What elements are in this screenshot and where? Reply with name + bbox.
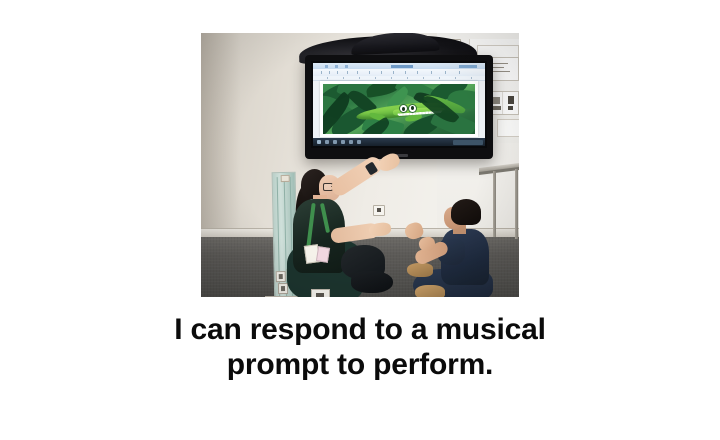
symbol-icon — [508, 96, 514, 104]
id-badge — [316, 246, 330, 263]
caption: I can respond to a musical prompt to per… — [0, 312, 720, 382]
table-leg — [493, 171, 496, 237]
symbol-icon — [493, 106, 501, 110]
app-ribbon[interactable] — [313, 69, 485, 76]
caption-line-2: prompt to perform. — [0, 347, 720, 382]
socket-icon — [278, 283, 288, 294]
shoe — [415, 285, 445, 297]
floor-card — [311, 289, 330, 297]
hair — [451, 199, 481, 225]
shoe — [351, 271, 393, 293]
socket-icon — [276, 271, 286, 282]
interactive-whiteboard-screen[interactable] — [305, 55, 493, 159]
symbol-icon — [508, 106, 513, 110]
table-leg — [515, 169, 518, 239]
screen-taskbar[interactable] — [313, 138, 485, 146]
wall-shadow — [201, 33, 241, 245]
crocodile-eye — [399, 104, 408, 113]
posted-note — [497, 119, 519, 137]
screen-display[interactable] — [313, 63, 485, 146]
symbol-icon — [493, 97, 500, 104]
shoe — [407, 263, 433, 277]
classroom-photo — [201, 33, 519, 297]
caption-line-1: I can respond to a musical — [0, 312, 720, 347]
page-root: I can respond to a musical prompt to per… — [0, 0, 720, 440]
system-tray[interactable] — [453, 140, 483, 145]
crocodile-jungle-artwork — [323, 84, 475, 134]
crocodile-eye — [408, 104, 417, 113]
wall-socket-icon — [373, 205, 385, 216]
trunking-top-plate — [281, 175, 290, 182]
document-page — [320, 81, 478, 137]
